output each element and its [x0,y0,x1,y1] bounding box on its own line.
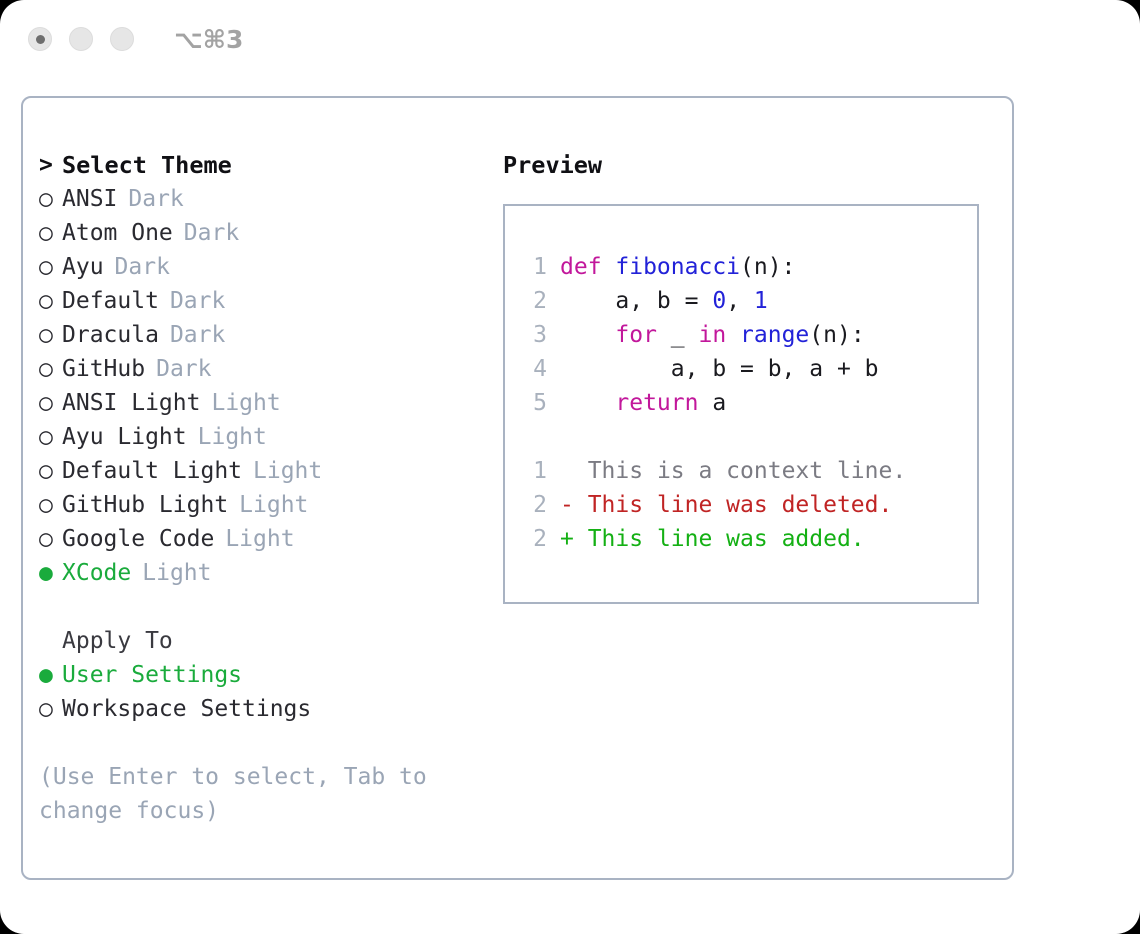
code-preview: 1def fibonacci(n):2 a, b = 0, 13 for _ i… [521,250,971,556]
title-bar: ⌥⌘3 [0,0,1140,78]
radio-unselected-icon: ○ [39,526,62,552]
window-dot-second[interactable] [69,27,93,51]
theme-list-item[interactable]: ○GitHub LightLight [39,488,479,522]
line-number: 1 [521,254,547,280]
theme-variant-badge: Dark [170,288,225,314]
theme-variant-badge: Dark [115,254,170,280]
code-token: (n): [740,254,795,280]
apply-to-header-label: Apply To [62,628,173,654]
theme-list-item[interactable]: ○DefaultDark [39,284,479,318]
theme-name-label: Ayu Light [62,424,187,450]
diff-sign: + [560,526,574,552]
code-line: 2 a, b = 0, 1 [521,284,971,318]
diff-text: This line was added. [574,526,865,552]
apply-to-item[interactable]: ○Workspace Settings [39,692,479,726]
diff-text: This is a context line. [574,458,906,484]
code-token: 1 [754,288,768,314]
spacer [39,590,479,624]
theme-list: ○ANSIDark○Atom OneDark○AyuDark○DefaultDa… [39,182,479,590]
radio-unselected-icon: ○ [39,390,62,416]
code-sample: 1def fibonacci(n):2 a, b = 0, 13 for _ i… [521,250,971,420]
theme-list-item[interactable]: ○ANSIDark [39,182,479,216]
theme-name-label: Google Code [62,526,214,552]
diff-line: 2+ This line was added. [521,522,971,556]
app-window: ⌥⌘3 >Select Theme ○ANSIDark○Atom OneDark… [0,0,1140,934]
theme-list-item[interactable]: ○Default LightLight [39,454,479,488]
theme-list-item[interactable]: ○Atom OneDark [39,216,479,250]
theme-selector-column: >Select Theme ○ANSIDark○Atom OneDark○Ayu… [39,148,479,726]
preview-header: Preview [503,148,993,182]
code-token: for [560,322,657,348]
preview-box: 1def fibonacci(n):2 a, b = 0, 13 for _ i… [503,204,979,604]
code-line: 3 for _ in range(n): [521,318,971,352]
theme-variant-badge: Light [142,560,211,586]
code-token: (n): [809,322,864,348]
theme-variant-badge: Light [225,526,294,552]
theme-name-label: Ayu [62,254,104,280]
theme-name-label: Default Light [62,458,242,484]
code-token: a, b = b, a + b [560,356,879,382]
theme-name-label: ANSI Light [62,390,200,416]
theme-name-label: GitHub Light [62,492,228,518]
code-token: a, b = [560,288,712,314]
caret-icon: > [39,152,62,178]
diff-sign: - [560,492,574,518]
diff-sample: 1 This is a context line.2- This line wa… [521,454,971,556]
code-token: return [560,390,698,416]
code-line: 1def fibonacci(n): [521,250,971,284]
theme-name-label: Dracula [62,322,159,348]
line-number: 4 [521,356,547,382]
window-dot-third[interactable] [110,27,134,51]
apply-to-label: Workspace Settings [62,696,311,722]
diff-text: This line was deleted. [574,492,893,518]
code-token: in [698,322,726,348]
code-line: 4 a, b = b, a + b [521,352,971,386]
main-panel: >Select Theme ○ANSIDark○Atom OneDark○Ayu… [21,96,1014,880]
code-token: 0 [712,288,726,314]
theme-variant-badge: Light [211,390,280,416]
theme-list-item[interactable]: ○DraculaDark [39,318,479,352]
theme-variant-badge: Dark [128,186,183,212]
radio-unselected-icon: ○ [39,288,62,314]
code-token: , [726,288,754,314]
diff-line: 1 This is a context line. [521,454,971,488]
theme-variant-badge: Light [198,424,267,450]
radio-unselected-icon: ○ [39,322,62,348]
apply-to-header-marker-placeholder: · [39,628,62,654]
keyboard-hint: (Use Enter to select, Tab to change focu… [39,760,449,828]
theme-list-item[interactable]: ○AyuDark [39,250,479,284]
apply-to-header: ·Apply To [39,624,479,658]
keyboard-shortcut-label: ⌥⌘3 [174,25,243,54]
code-token: def [560,254,615,280]
code-blank-line [521,420,971,454]
code-token [726,322,740,348]
line-number: 2 [521,288,547,314]
preview-column: Preview 1def fibonacci(n):2 a, b = 0, 13… [503,148,993,604]
code-line: 5 return a [521,386,971,420]
line-number: 2 [521,492,547,518]
theme-list-item[interactable]: ●XCodeLight [39,556,479,590]
diff-sign [560,458,574,484]
radio-selected-icon: ● [39,662,62,688]
window-dot-active-inner [36,35,45,44]
apply-to-item[interactable]: ●User Settings [39,658,479,692]
radio-unselected-icon: ○ [39,424,62,450]
theme-variant-badge: Light [239,492,308,518]
radio-unselected-icon: ○ [39,696,62,722]
theme-variant-badge: Dark [156,356,211,382]
theme-name-label: Atom One [62,220,173,246]
line-number: 2 [521,526,547,552]
theme-list-item[interactable]: ○Ayu LightLight [39,420,479,454]
apply-to-label: User Settings [62,662,242,688]
theme-variant-badge: Dark [170,322,225,348]
select-theme-header-label: Select Theme [62,151,232,179]
theme-list-item[interactable]: ○GitHubDark [39,352,479,386]
code-token: a [698,390,726,416]
radio-unselected-icon: ○ [39,356,62,382]
theme-name-label: ANSI [62,186,117,212]
apply-to-list: ●User Settings○Workspace Settings [39,658,479,726]
select-theme-header: >Select Theme [39,148,479,182]
code-token: fibonacci [615,254,740,280]
radio-unselected-icon: ○ [39,186,62,212]
theme-name-label: XCode [62,560,131,586]
line-number: 1 [521,458,547,484]
radio-unselected-icon: ○ [39,220,62,246]
radio-unselected-icon: ○ [39,254,62,280]
code-token: _ [657,322,699,348]
radio-unselected-icon: ○ [39,458,62,484]
theme-name-label: GitHub [62,356,145,382]
radio-selected-icon: ● [39,560,62,586]
theme-variant-badge: Dark [184,220,239,246]
window-dot-active[interactable] [28,27,52,51]
theme-list-item[interactable]: ○ANSI LightLight [39,386,479,420]
theme-name-label: Default [62,288,159,314]
radio-unselected-icon: ○ [39,492,62,518]
window-controls [28,27,134,51]
theme-variant-badge: Light [253,458,322,484]
code-token: range [740,322,809,348]
diff-line: 2- This line was deleted. [521,488,971,522]
line-number: 5 [521,390,547,416]
theme-list-item[interactable]: ○Google CodeLight [39,522,479,556]
line-number: 3 [521,322,547,348]
